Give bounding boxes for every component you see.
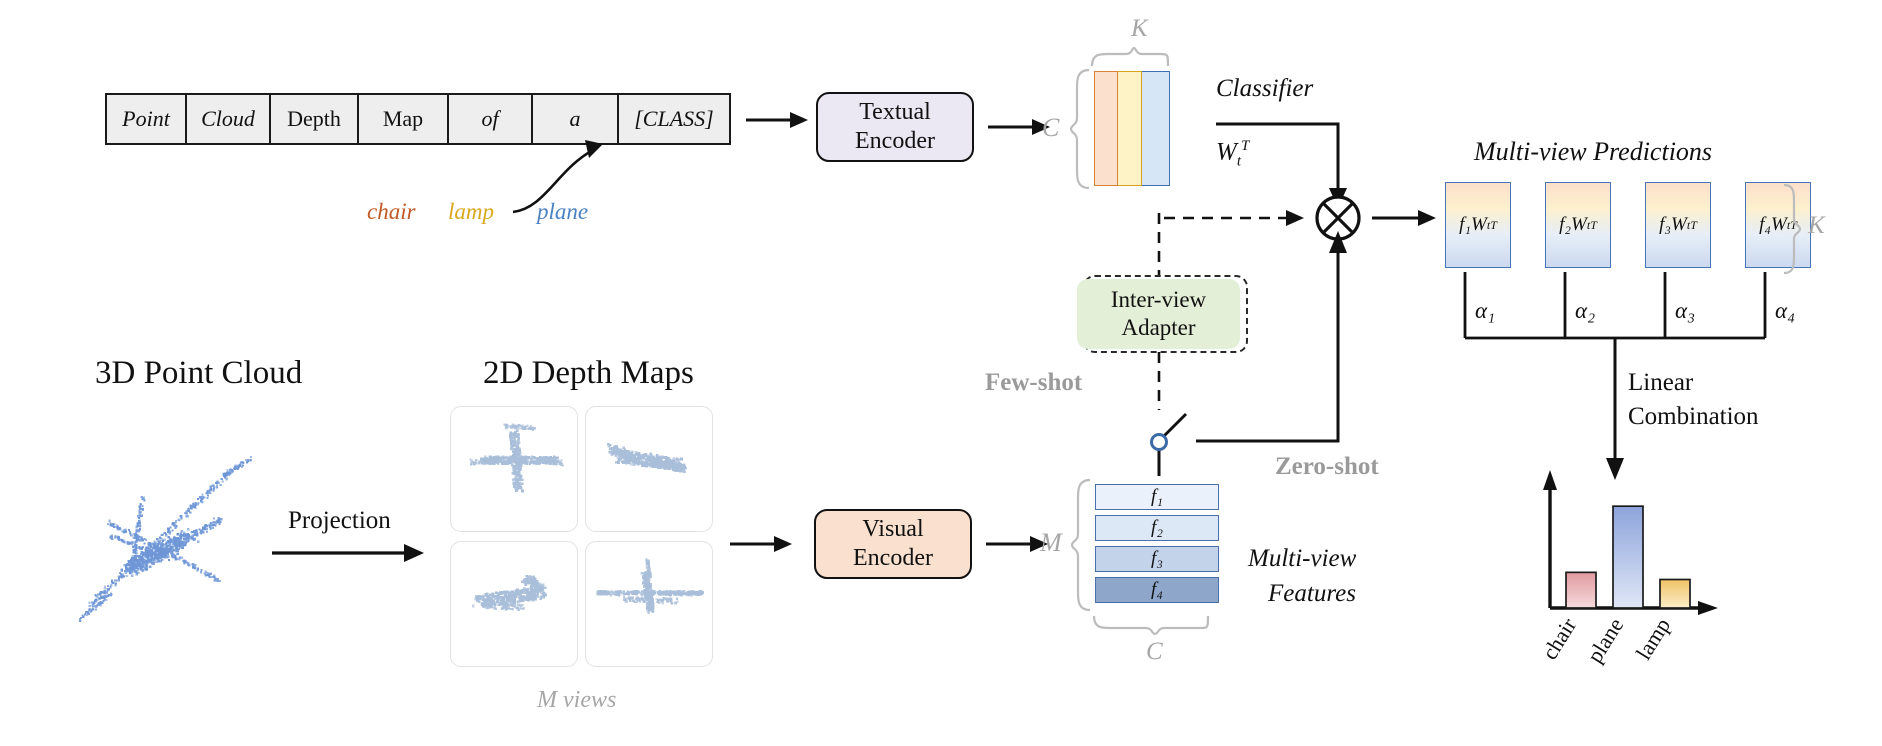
features-caption-line2: Features bbox=[1268, 580, 1356, 608]
alpha-label-2: α₂ bbox=[1575, 298, 1595, 324]
class-substitution-arrow bbox=[505, 130, 635, 220]
alpha-label-4: α₄ bbox=[1775, 298, 1795, 324]
class-word-chair[interactable]: chair bbox=[367, 199, 416, 225]
prediction-bar-chart: chairplanelamp bbox=[1530, 468, 1720, 668]
prompt-token-1[interactable]: Cloud bbox=[187, 95, 271, 143]
prediction-box-2[interactable]: f₂WtT bbox=[1545, 182, 1611, 268]
textual-encoder-line2: Encoder bbox=[855, 127, 935, 156]
arrow-to-barchart bbox=[1605, 380, 1625, 482]
feature-row-4[interactable]: f₄ bbox=[1095, 577, 1219, 603]
depth-map-tile-3[interactable] bbox=[450, 541, 578, 667]
depth-map-tile-4[interactable] bbox=[585, 541, 713, 667]
textual-encoder-line1: Textual bbox=[859, 98, 931, 127]
prompt-token-2[interactable]: Depth bbox=[271, 95, 359, 143]
features-caption-line1: Multi-view bbox=[1248, 545, 1356, 573]
adapter-line1: Inter-view bbox=[1111, 286, 1206, 314]
classifier-k-label: K bbox=[1131, 15, 1148, 43]
depth-map-tile-2[interactable] bbox=[585, 406, 713, 532]
predictions-brace-k bbox=[1782, 183, 1804, 275]
arrow-projection bbox=[272, 540, 432, 566]
bar-lamp bbox=[1660, 579, 1690, 608]
linear-combination-line1: Linear bbox=[1628, 369, 1693, 397]
alpha-label-3: α₃ bbox=[1675, 298, 1695, 324]
mode-switch-toggle[interactable] bbox=[1138, 408, 1202, 478]
features-c-label: C bbox=[1146, 638, 1163, 666]
classifier-brace-k bbox=[1090, 46, 1180, 68]
classifier-bar-lamp bbox=[1118, 71, 1142, 186]
alpha-combination-tree bbox=[1455, 272, 1795, 382]
prediction-box-3[interactable]: f₃WtT bbox=[1645, 182, 1711, 268]
bar-label-chair: chair bbox=[1537, 613, 1582, 664]
point-cloud-visual bbox=[70, 440, 290, 630]
features-brace-c bbox=[1092, 614, 1222, 636]
bar-chair bbox=[1566, 572, 1596, 608]
feature-row-3[interactable]: f₃ bbox=[1095, 546, 1219, 572]
class-word-lamp[interactable]: lamp bbox=[448, 199, 494, 225]
bar-label-plane: plane bbox=[1582, 613, 1628, 667]
predictions-k-label: K bbox=[1808, 212, 1825, 240]
classifier-bar-plane bbox=[1142, 71, 1170, 186]
diagram-canvas: PointCloudDepthMapofa[CLASS] chairlamppl… bbox=[0, 0, 1882, 746]
textual-encoder-box[interactable]: Textual Encoder bbox=[816, 92, 974, 162]
classifier-bar-chair bbox=[1094, 71, 1118, 186]
depth-maps-title: 2D Depth Maps bbox=[483, 355, 694, 392]
visual-encoder-box[interactable]: Visual Encoder bbox=[814, 509, 972, 579]
classifier-title: Classifier bbox=[1216, 75, 1313, 103]
alpha-label-1: α₁ bbox=[1475, 298, 1495, 324]
features-m-label: M bbox=[1040, 528, 1062, 558]
views-caption: M views bbox=[537, 687, 616, 714]
multi-view-predictions-title: Multi-view Predictions bbox=[1474, 137, 1712, 167]
bar-plane bbox=[1613, 506, 1643, 608]
visual-encoder-line2: Encoder bbox=[853, 544, 933, 573]
zero-shot-label: Zero-shot bbox=[1275, 453, 1379, 481]
arrow-depthmaps-to-visual-encoder bbox=[730, 532, 800, 556]
prompt-token-row: PointCloudDepthMapofa[CLASS] bbox=[105, 93, 731, 145]
classifier-brace-c bbox=[1069, 68, 1093, 190]
visual-encoder-line1: Visual bbox=[862, 515, 923, 544]
arrow-operator-to-predictions bbox=[1372, 206, 1444, 230]
prompt-token-3[interactable]: Map bbox=[359, 95, 449, 143]
projection-label: Projection bbox=[288, 507, 391, 535]
prompt-token-0[interactable]: Point bbox=[107, 95, 187, 143]
point-cloud-title: 3D Point Cloud bbox=[95, 355, 302, 392]
bar-label-lamp: lamp bbox=[1631, 613, 1676, 664]
features-brace-m bbox=[1070, 478, 1094, 612]
adapter-dashed-stub-bottom bbox=[1154, 352, 1164, 414]
classifier-c-label: C bbox=[1042, 113, 1059, 143]
feature-row-2[interactable]: f₂ bbox=[1095, 515, 1219, 541]
feature-row-1[interactable]: f₁ bbox=[1095, 484, 1219, 510]
arrow-prompt-to-textual-encoder bbox=[746, 108, 812, 132]
adapter-dashed-stub-top bbox=[1154, 213, 1164, 277]
prediction-box-1[interactable]: f₁WtT bbox=[1445, 182, 1511, 268]
linear-combination-line2: Combination bbox=[1628, 403, 1759, 431]
depth-map-tile-1[interactable] bbox=[450, 406, 578, 532]
classifier-weight-bars bbox=[1094, 71, 1170, 186]
prompt-token-6[interactable]: [CLASS] bbox=[619, 95, 729, 143]
arrow-zeroshot-to-operator bbox=[1196, 225, 1356, 447]
adapter-line2: Adapter bbox=[1121, 314, 1195, 342]
few-shot-label: Few-shot bbox=[985, 369, 1082, 397]
